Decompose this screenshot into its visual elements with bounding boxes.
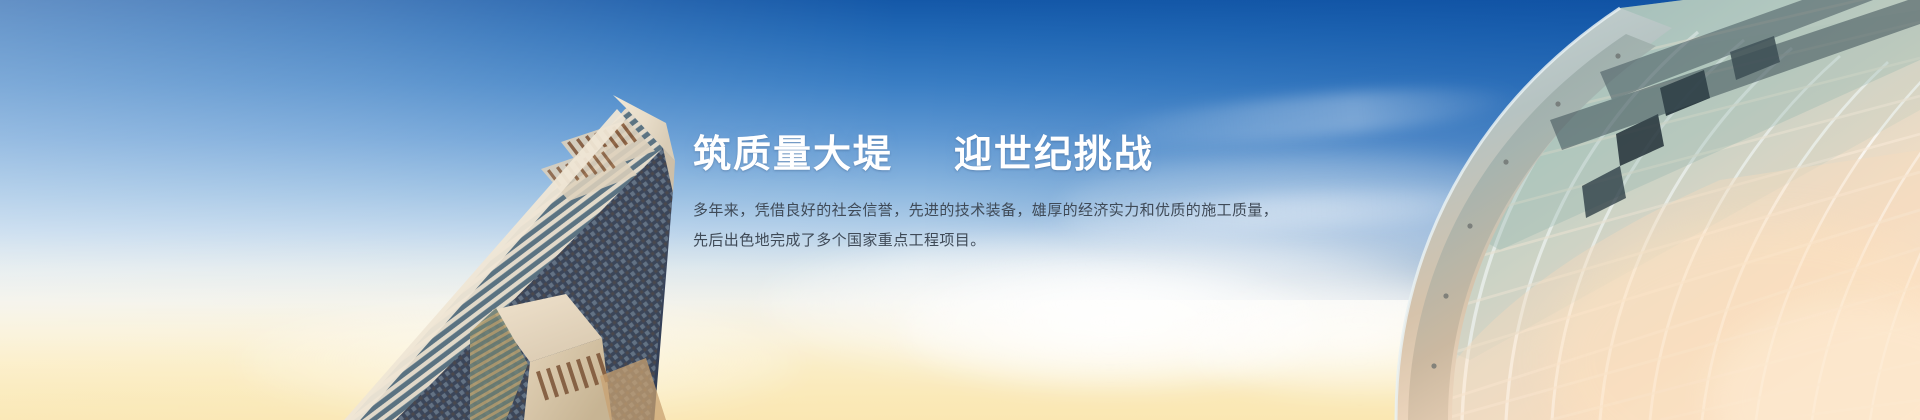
banner-headline: 筑质量大堤 迎世纪挑战: [693, 132, 1213, 177]
banner-text-block: 筑质量大堤 迎世纪挑战 多年来，凭借良好的社会信誉，先进的技术装备，雄厚的经济实…: [693, 132, 1213, 255]
low-rise-tower: [470, 280, 700, 420]
hero-banner: 筑质量大堤 迎世纪挑战 多年来，凭借良好的社会信誉，先进的技术装备，雄厚的经济实…: [0, 0, 1920, 420]
banner-subtitle-line-2: 先后出色地完成了多个国家重点工程项目。: [693, 225, 1213, 255]
curved-glass-facade-building: [1300, 0, 1920, 420]
banner-subtitle-line-1: 多年来，凭借良好的社会信誉，先进的技术装备，雄厚的经济实力和优质的施工质量，: [693, 195, 1213, 225]
low-rise-right-wing: [600, 358, 666, 420]
banner-subtitle: 多年来，凭借良好的社会信誉，先进的技术装备，雄厚的经济实力和优质的施工质量， 先…: [693, 195, 1213, 255]
